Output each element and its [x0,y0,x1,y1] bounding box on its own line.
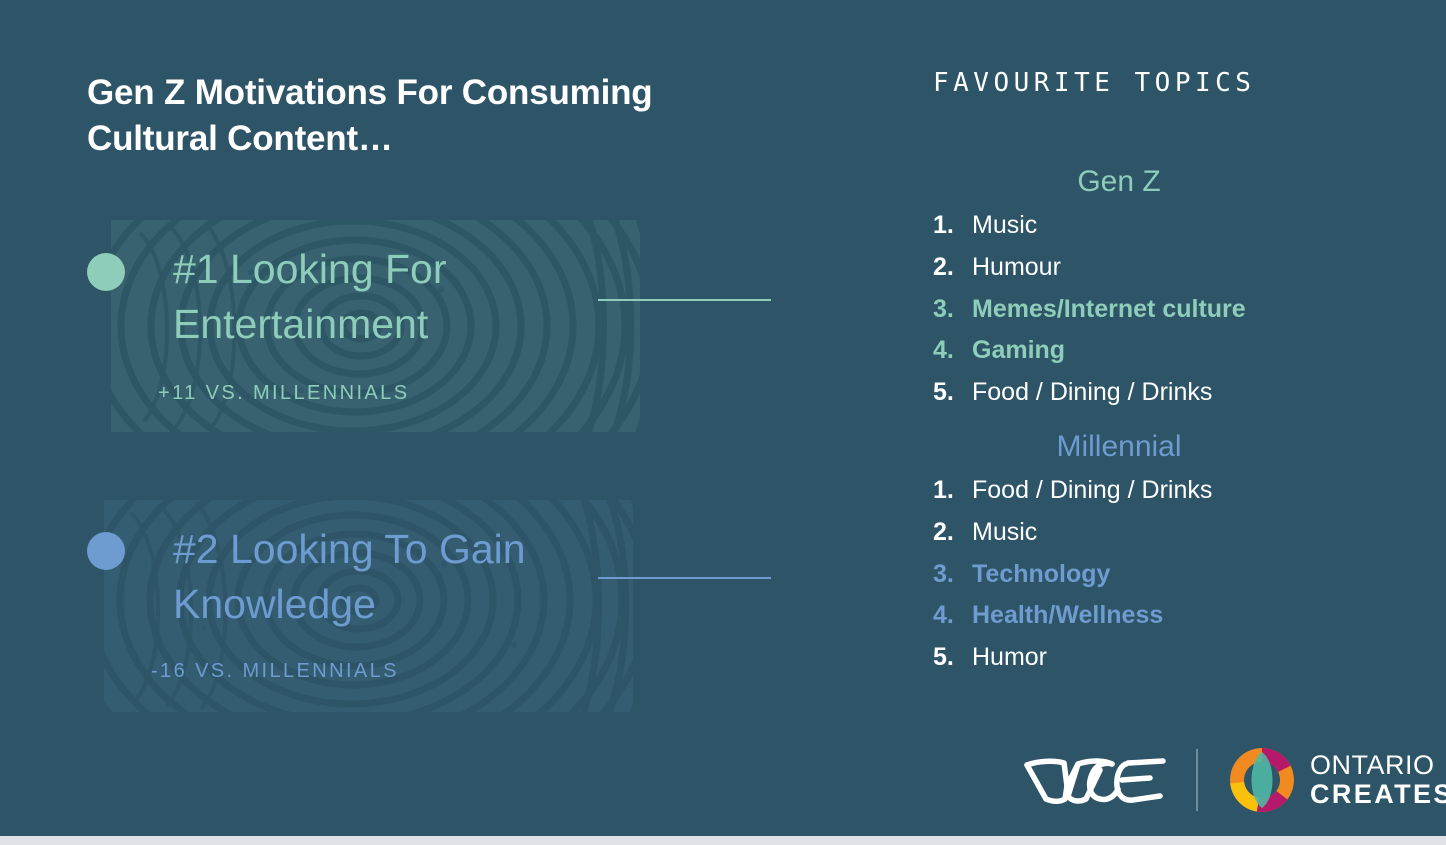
bullet-dot-icon [87,253,125,291]
motivation-delta: +11 VS. MILLENNIALS [158,382,409,405]
list-item: 5. Food / Dining / Drinks [933,372,1353,414]
favourite-topics-heading: FAVOURITE TOPICS [933,68,1255,98]
bullet-dot-icon [87,532,125,570]
motivation-title: #2 Looking To Gain Knowledge [173,522,643,632]
list-item: 3. Memes/Internet culture [933,289,1353,331]
list-item-label: Gaming [972,330,1065,372]
list-item: 4. Gaming [933,330,1353,372]
page-title: Gen Z Motivations For Consuming Cultural… [87,70,787,161]
list-item-number: 3. [933,289,963,331]
slide-canvas: Gen Z Motivations For Consuming Cultural… [0,0,1446,836]
list-item: 4. Health/Wellness [933,595,1353,637]
ontario-creates-line2: CREATES [1310,780,1446,809]
list-item-number: 1. [933,205,963,247]
list-item: 2. Humour [933,247,1353,289]
list-item-number: 2. [933,512,963,554]
list-item-number: 2. [933,247,963,289]
motivation-rule [598,299,771,301]
topic-group-title: Millennial [933,430,1353,464]
list-item: 1. Food / Dining / Drinks [933,470,1353,512]
ontario-creates-wordmark: ONTARIO CREATES [1310,751,1446,808]
list-item-label: Humour [972,247,1061,289]
list-item-number: 4. [933,595,963,637]
list-item-label: Health/Wellness [972,595,1163,637]
list-item-label: Music [972,205,1037,247]
logo-divider [1196,749,1198,811]
topic-group-title: Gen Z [933,165,1353,199]
motivation-block-1: #1 Looking For Entertainment +11 VS. MIL… [87,220,787,435]
list-item-number: 5. [933,372,963,414]
ontario-creates-logo: ONTARIO CREATES [1226,744,1446,816]
ontario-creates-mark-icon [1226,744,1298,816]
motivation-delta: -16 VS. MILLENNIALS [151,660,399,683]
list-item-label: Humor [972,637,1047,679]
list-item: 1. Music [933,205,1353,247]
topic-list: 1. Food / Dining / Drinks 2. Music 3. Te… [933,470,1353,679]
list-item-label: Food / Dining / Drinks [972,470,1212,512]
list-item-number: 1. [933,470,963,512]
topic-group-gen-z: Gen Z 1. Music 2. Humour 3. Memes/Intern… [933,165,1353,414]
list-item-label: Music [972,512,1037,554]
motivation-title: #1 Looking For Entertainment [173,242,643,352]
bottom-strip [0,836,1446,845]
list-item-number: 5. [933,637,963,679]
list-item-label: Technology [972,554,1110,596]
list-item: 3. Technology [933,554,1353,596]
vice-logo-icon [1020,752,1170,808]
list-item: 2. Music [933,512,1353,554]
topic-group-millennial: Millennial 1. Food / Dining / Drinks 2. … [933,430,1353,679]
list-item-label: Memes/Internet culture [972,289,1246,331]
list-item-number: 4. [933,330,963,372]
ontario-creates-line1: ONTARIO [1310,751,1446,780]
motivation-rule [598,577,771,579]
list-item-label: Food / Dining / Drinks [972,372,1212,414]
motivation-block-2: #2 Looking To Gain Knowledge -16 VS. MIL… [87,500,787,715]
list-item: 5. Humor [933,637,1353,679]
list-item-number: 3. [933,554,963,596]
topic-list: 1. Music 2. Humour 3. Memes/Internet cul… [933,205,1353,414]
footer-logos: ONTARIO CREATES [1020,745,1446,815]
